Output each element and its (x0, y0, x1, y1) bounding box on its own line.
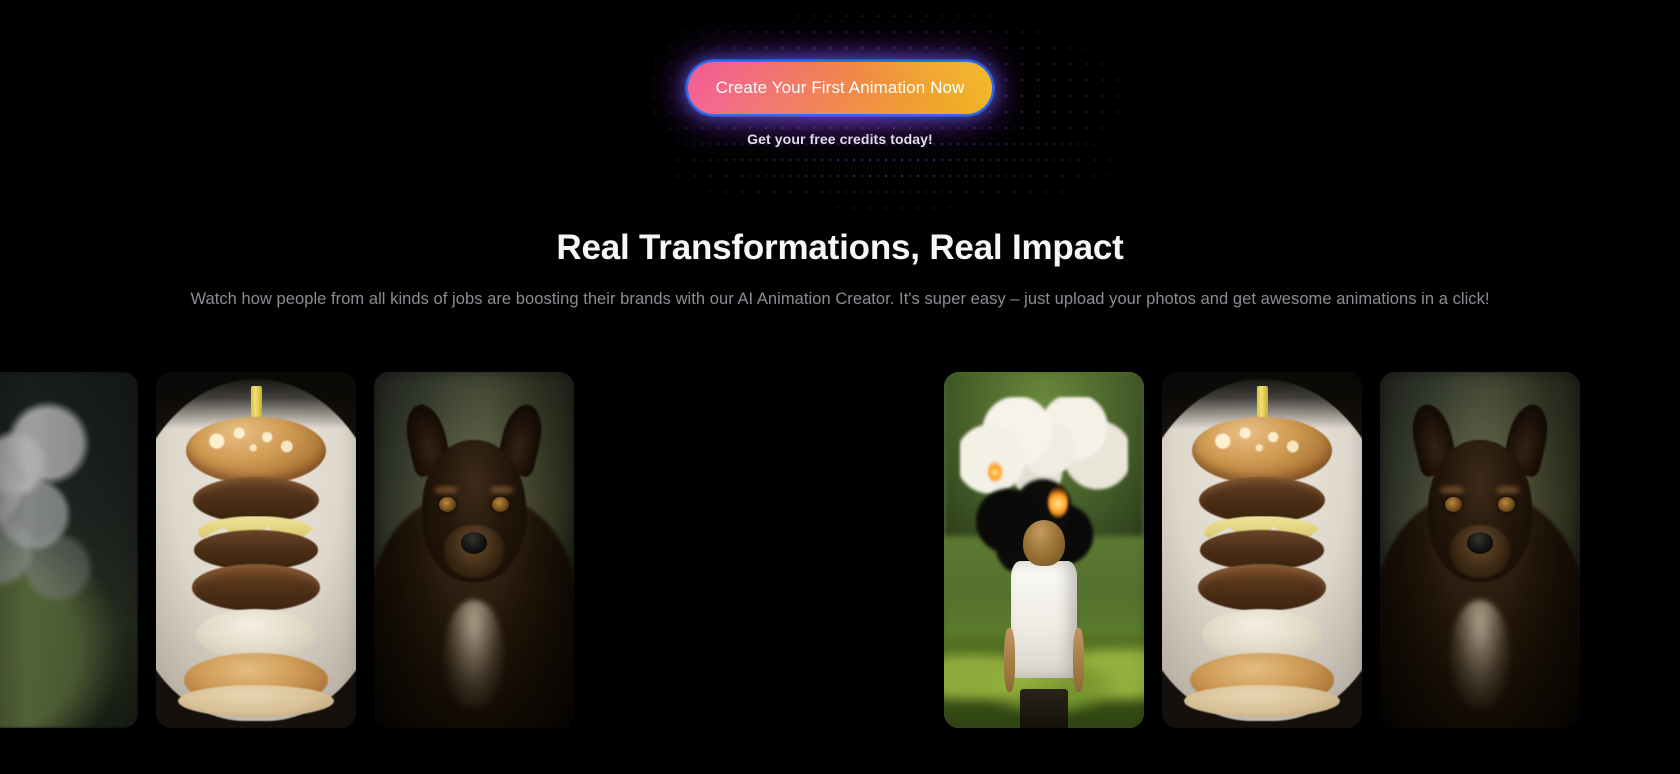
showcase-card[interactable] (944, 372, 1144, 728)
card-artwork-smoke (0, 372, 138, 728)
create-first-animation-button[interactable]: Create Your First Animation Now (686, 60, 994, 116)
showcase-card[interactable] (1162, 372, 1362, 728)
showcase-card[interactable] (156, 372, 356, 728)
card-artwork-dog (374, 372, 574, 728)
marquee-track-right (944, 372, 1580, 728)
marquee-track-left (0, 372, 574, 728)
cta-block: Create Your First Animation Now Get your… (0, 60, 1680, 147)
card-artwork-boy (944, 372, 1144, 728)
card-artwork-dog (1380, 372, 1580, 728)
section-subline: Watch how people from all kinds of jobs … (0, 290, 1680, 309)
section-headline: Real Transformations, Real Impact (0, 228, 1680, 268)
showcase-card-marquee[interactable] (0, 372, 1680, 730)
card-artwork-burger (1162, 372, 1362, 728)
showcase-card[interactable] (0, 372, 138, 728)
cta-glow-halo: Create Your First Animation Now (686, 60, 994, 116)
cta-button-label: Create Your First Animation Now (716, 78, 965, 97)
cta-subtext: Get your free credits today! (747, 131, 933, 147)
showcase-card[interactable] (374, 372, 574, 728)
section-heading-block: Real Transformations, Real Impact Watch … (0, 228, 1680, 309)
showcase-card[interactable] (1380, 372, 1580, 728)
card-artwork-burger (156, 372, 356, 728)
landing-page-section: Create Your First Animation Now Get your… (0, 0, 1680, 774)
